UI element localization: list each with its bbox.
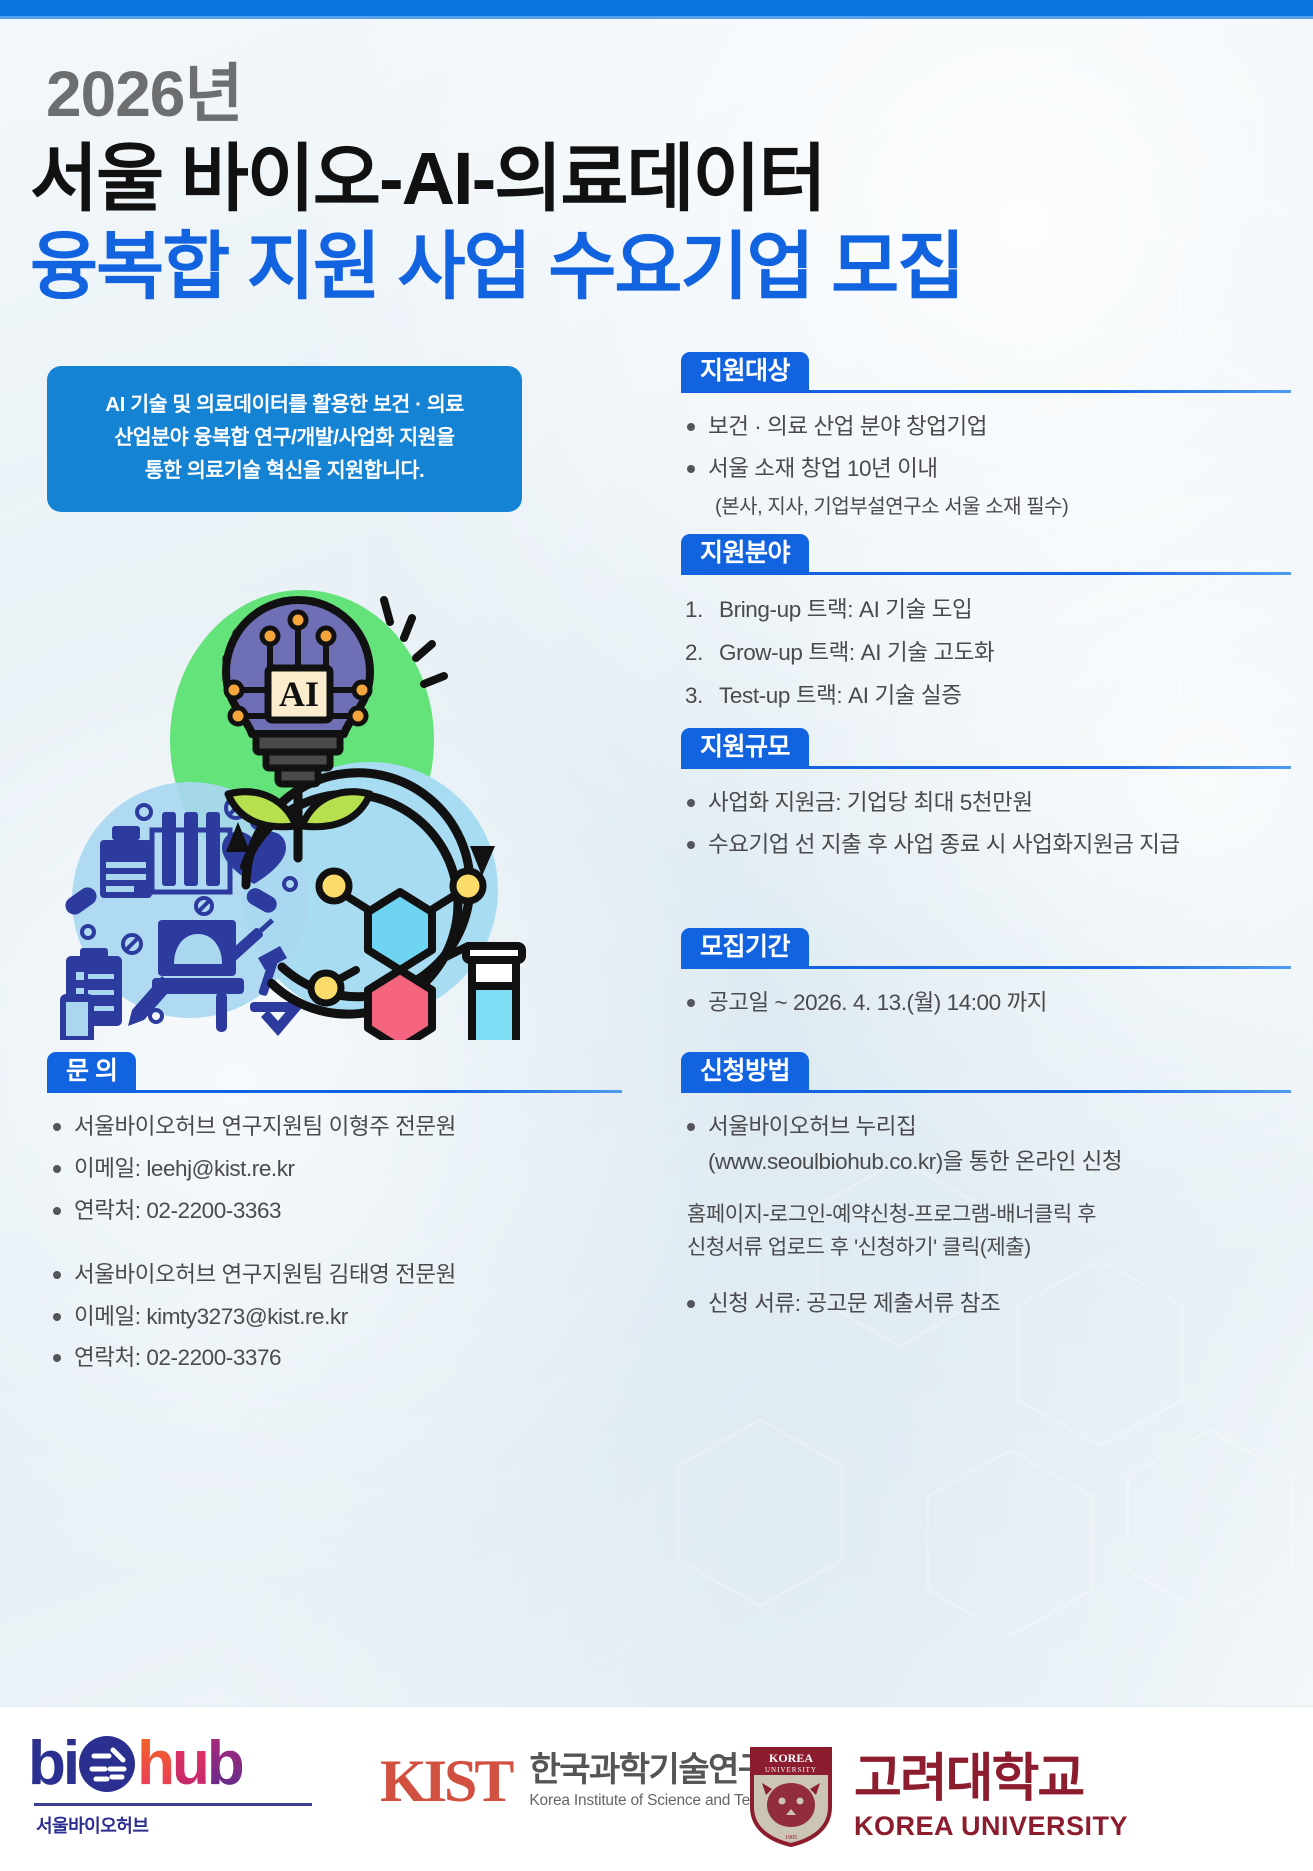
section-support-target: 지원대상 보건 · 의료 산업 분야 창업기업 서울 소재 창업 10년 이내 … (681, 352, 1291, 530)
apply-website-url-line: (www.seoulbiohub.co.kr)을 통한 온라인 신청 (708, 1149, 1122, 1174)
section-rule (681, 766, 1291, 769)
biohub-subtitle: 서울바이오허브 (36, 1812, 328, 1838)
apply-steps-line1: 홈페이지-로그인-예약신청-프로그램-배너클릭 후 (687, 1198, 1291, 1232)
top-accent-bar (0, 0, 1313, 16)
list-item: 서울바이오허브 연구지원팀 이형주 전문원 (47, 1110, 622, 1145)
list-item: 연락처: 02-2200-3376 (47, 1341, 622, 1376)
section-rule (681, 572, 1291, 575)
section-support-scale: 지원규모 사업화 지원금: 기업당 최대 5천만원 수요기업 선 지출 후 사업… (681, 728, 1291, 870)
shield-top-text: KOREA (769, 1751, 813, 1765)
section-how-to-apply: 신청방법 서울바이오허브 누리집 (www.seoulbiohub.co.kr)… (681, 1052, 1291, 1329)
section-rule (681, 966, 1291, 969)
kist-wordmark: KIST (380, 1751, 511, 1811)
biohub-letter-b2: b (207, 1733, 242, 1795)
korea-university-text-block: 고려대학교 KOREA UNIVERSITY (854, 1753, 1128, 1842)
section-title-support-field: 지원분야 (681, 534, 809, 574)
concept-illustration: AI (40, 540, 560, 1040)
korea-university-shield-icon: KOREA UNIVERSITY 1905 (748, 1745, 834, 1849)
section-title-support-scale: 지원규모 (681, 728, 809, 768)
section-body: 서울바이오허브 연구지원팀 이형주 전문원 이메일: leehj@kist.re… (47, 1110, 622, 1376)
apply-steps-line2: 신청서류 업로드 후 '신청하기' 클릭(제출) (687, 1231, 1291, 1265)
section-title-recruit-period: 모집기간 (681, 928, 809, 968)
biohub-letter-i: i (63, 1733, 77, 1795)
logo-kist: KIST 한국과학기술연구원 Korea Institute of Scienc… (380, 1751, 810, 1811)
section-support-field: 지원분야 Bring-up 트랙: AI 기술 도입 Grow-up 트랙: A… (681, 534, 1291, 721)
list-item: 공고일 ~ 2026. 4. 13.(월) 14:00 까지 (681, 986, 1291, 1021)
how-to-apply-docs-list: 신청 서류: 공고문 제출서류 참조 (681, 1287, 1291, 1322)
biohub-wordmark: b i h u b (28, 1733, 328, 1795)
section-body: Bring-up 트랙: AI 기술 도입 Grow-up 트랙: AI 기술 … (681, 592, 1291, 714)
support-target-list: 보건 · 의료 산업 분야 창업기업 서울 소재 창업 10년 이내 (본사, … (681, 410, 1291, 523)
list-item: 서울 소재 창업 10년 이내 (681, 452, 1291, 487)
biohub-letter-h: h (137, 1733, 172, 1795)
shield-bottom-text: UNIVERSITY (765, 1766, 817, 1774)
list-item: Grow-up 트랙: AI 기술 고도화 (681, 635, 1291, 671)
poster-title-line2: 융복합 지원 사업 수요기업 모집 (30, 228, 963, 306)
list-item: 보건 · 의료 산업 분야 창업기업 (681, 410, 1291, 445)
section-body: 서울바이오허브 누리집 (www.seoulbiohub.co.kr)을 통한 … (681, 1110, 1291, 1322)
list-item: 연락처: 02-2200-3363 (47, 1194, 622, 1229)
list-item: Test-up 트랙: AI 기술 실증 (681, 678, 1291, 714)
contact-person-2: 서울바이오허브 연구지원팀 김태영 전문원 이메일: kimty3273@kis… (47, 1258, 622, 1377)
summary-line-1: AI 기술 및 의료데이터를 활용한 보건 · 의료 (61, 388, 508, 421)
biohub-o-emblem-icon (79, 1736, 135, 1792)
section-rule (681, 390, 1291, 393)
apply-website-label: 서울바이오허브 누리집 (708, 1114, 916, 1139)
section-rule (47, 1090, 622, 1093)
section-title-contact: 문 의 (47, 1052, 136, 1092)
test-tube-icon (466, 946, 522, 1040)
section-recruit-period: 모집기간 공고일 ~ 2026. 4. 13.(월) 14:00 까지 (681, 928, 1291, 1028)
section-header: 모집기간 (681, 928, 1291, 968)
section-contact: 문 의 서울바이오허브 연구지원팀 이형주 전문원 이메일: leehj@kis… (47, 1052, 622, 1383)
summary-line-2: 산업분야 융복합 연구/개발/사업화 지원을 (61, 421, 508, 454)
section-header: 문 의 (47, 1052, 622, 1092)
list-item: 사업화 지원금: 기업당 최대 5천만원 (681, 786, 1291, 821)
section-body: 공고일 ~ 2026. 4. 13.(월) 14:00 까지 (681, 986, 1291, 1021)
list-item: 서울바이오허브 누리집 (www.seoulbiohub.co.kr)을 통한 … (681, 1110, 1291, 1180)
summary-line-3: 통한 의료기술 혁신을 지원합니다. (61, 454, 508, 487)
list-item: 이메일: leehj@kist.re.kr (47, 1152, 622, 1187)
list-item: Bring-up 트랙: AI 기술 도입 (681, 592, 1291, 628)
poster-title-line1: 서울 바이오-AI-의료데이터 (30, 140, 825, 218)
section-title-how-to-apply: 신청방법 (681, 1052, 809, 1092)
how-to-apply-list: 서울바이오허브 누리집 (www.seoulbiohub.co.kr)을 통한 … (681, 1110, 1291, 1180)
section-header: 지원분야 (681, 534, 1291, 574)
recruit-period-list: 공고일 ~ 2026. 4. 13.(월) 14:00 까지 (681, 986, 1291, 1021)
section-header: 신청방법 (681, 1052, 1291, 1092)
top-accent-bar-shade (0, 16, 1313, 19)
summary-box: AI 기술 및 의료데이터를 활용한 보건 · 의료 산업분야 융복합 연구/개… (47, 366, 522, 512)
support-field-list: Bring-up 트랙: AI 기술 도입 Grow-up 트랙: AI 기술 … (681, 592, 1291, 714)
biohub-divider (34, 1803, 312, 1806)
section-body: 사업화 지원금: 기업당 최대 5천만원 수요기업 선 지출 후 사업 종료 시… (681, 786, 1291, 863)
contact-person-1: 서울바이오허브 연구지원팀 이형주 전문원 이메일: leehj@kist.re… (47, 1110, 622, 1229)
list-item: 수요기업 선 지출 후 사업 종료 시 사업화지원금 지급 (681, 828, 1291, 863)
section-header: 지원대상 (681, 352, 1291, 392)
logo-seoul-biohub: b i h u b (28, 1733, 328, 1838)
spacer (681, 1265, 1291, 1287)
section-title-support-target: 지원대상 (681, 352, 809, 392)
korea-university-english-name: KOREA UNIVERSITY (854, 1811, 1128, 1842)
logo-korea-university: KOREA UNIVERSITY 1905 고려대학교 KOREA UNIVER… (748, 1745, 1128, 1849)
biohub-letter-u: u (172, 1733, 207, 1795)
section-header: 지원규모 (681, 728, 1291, 768)
support-target-note: (본사, 지사, 기업부설연구소 서울 소재 필수) (681, 492, 1291, 523)
svg-text:1905: 1905 (785, 1835, 797, 1841)
poster-year: 2026년 (46, 62, 242, 126)
apply-steps-note: 홈페이지-로그인-예약신청-프로그램-배너클릭 후 신청서류 업로드 후 '신청… (687, 1198, 1291, 1265)
korea-university-korean-name: 고려대학교 (854, 1753, 1128, 1805)
list-item: 이메일: kimty3273@kist.re.kr (47, 1300, 622, 1335)
list-item: 서울바이오허브 연구지원팀 김태영 전문원 (47, 1258, 622, 1293)
section-body: 보건 · 의료 산업 분야 창업기업 서울 소재 창업 10년 이내 (본사, … (681, 410, 1291, 523)
biohub-letter-b1: b (28, 1733, 63, 1795)
spacer (47, 1236, 622, 1258)
poster-root: 2026년 서울 바이오-AI-의료데이터 융복합 지원 사업 수요기업 모집 … (0, 0, 1313, 1871)
footer-logo-bar: b i h u b (0, 1706, 1313, 1871)
ai-label: AI (279, 674, 319, 714)
section-rule (681, 1090, 1291, 1093)
support-scale-list: 사업화 지원금: 기업당 최대 5천만원 수요기업 선 지출 후 사업 종료 시… (681, 786, 1291, 863)
list-item: 신청 서류: 공고문 제출서류 참조 (681, 1287, 1291, 1322)
